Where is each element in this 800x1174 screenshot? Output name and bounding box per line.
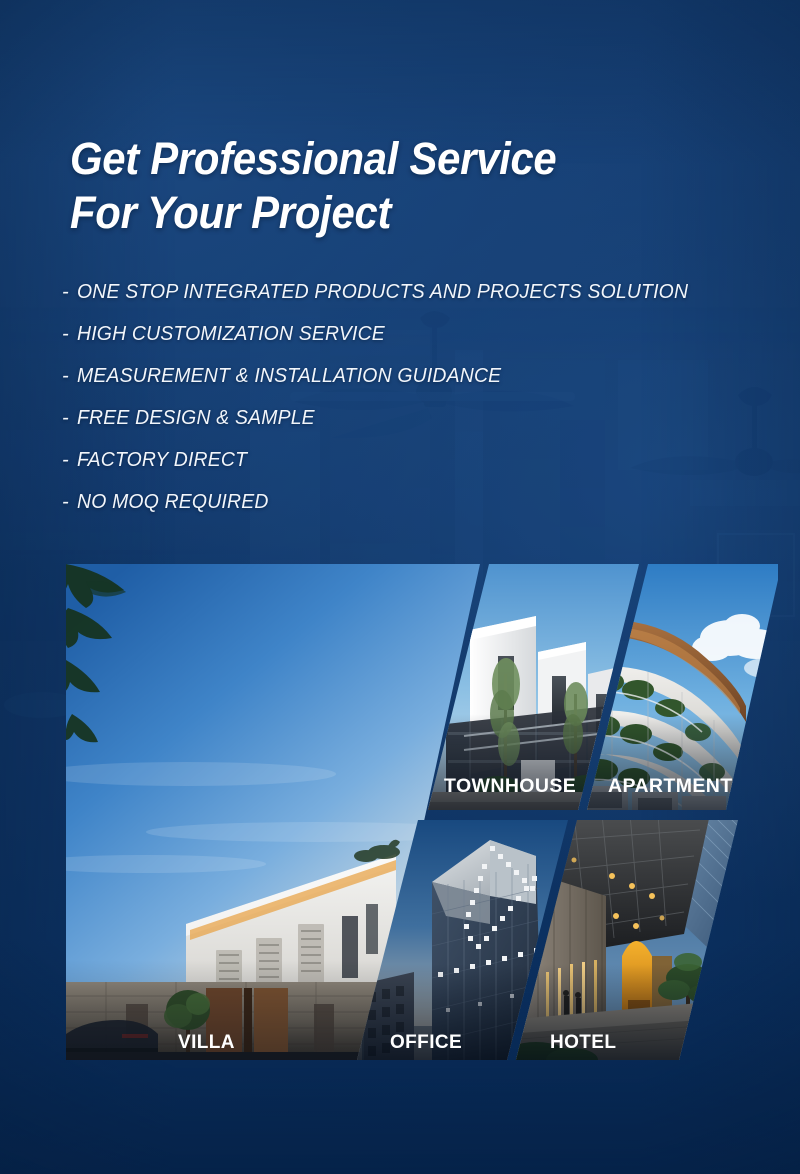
bullet-dash-icon: - [62, 449, 77, 472]
feature-list-item: - HIGH CUSTOMIZATION SERVICE [62, 323, 762, 365]
feature-list-item-label: NO MOQ REQUIRED [77, 491, 269, 514]
headline-line-2: For Your Project [70, 186, 721, 240]
collage-tile-label-hotel: HOTEL [550, 1032, 616, 1053]
feature-list-item: - ONE STOP INTEGRATED PRODUCTS AND PROJE… [62, 281, 762, 323]
bullet-dash-icon: - [62, 323, 77, 346]
collage-tile-label-apartment: APARTMENT [608, 775, 733, 797]
feature-list-item-label: FREE DESIGN & SAMPLE [77, 407, 315, 430]
bullet-dash-icon: - [62, 365, 77, 388]
feature-list-item: - MEASUREMENT & INSTALLATION GUIDANCE [62, 365, 762, 407]
collage-tile-label-villa: VILLA [178, 1032, 235, 1053]
bullet-dash-icon: - [62, 281, 77, 304]
feature-list-item: - FREE DESIGN & SAMPLE [62, 407, 762, 449]
feature-list-item-label: HIGH CUSTOMIZATION SERVICE [77, 323, 385, 346]
feature-list-item-label: FACTORY DIRECT [77, 449, 247, 472]
collage-tile-label-office: OFFICE [390, 1032, 462, 1053]
bullet-dash-icon: - [62, 491, 77, 514]
headline-line-1: Get Professional Service [70, 132, 721, 186]
bullet-dash-icon: - [62, 407, 77, 430]
feature-list-item-label: ONE STOP INTEGRATED PRODUCTS AND PROJECT… [77, 281, 688, 304]
feature-list: - ONE STOP INTEGRATED PRODUCTS AND PROJE… [62, 281, 762, 533]
collage-tile-label-townhouse: TOWNHOUSE [444, 775, 576, 797]
feature-list-item: - NO MOQ REQUIRED [62, 491, 762, 533]
feature-list-item-label: MEASUREMENT & INSTALLATION GUIDANCE [77, 365, 501, 388]
page-title: Get Professional Service For Your Projec… [70, 132, 770, 240]
feature-list-item: - FACTORY DIRECT [62, 449, 762, 491]
project-type-collage: VILLA [66, 564, 778, 1060]
